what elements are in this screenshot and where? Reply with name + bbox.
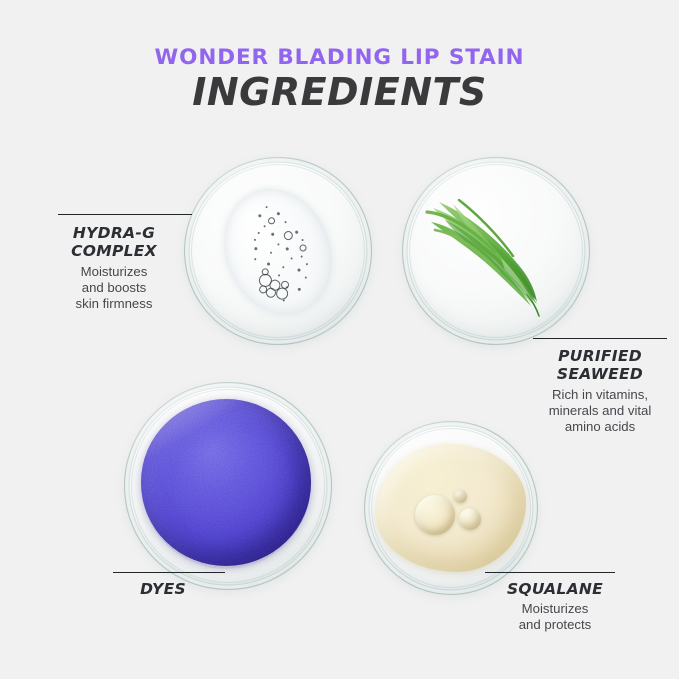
powder-grain-texture [141, 399, 312, 570]
brand-title: WONDER BLADING LIP STAIN [0, 45, 679, 70]
callout-squalane: SQUALANE Moisturizes and protects [480, 570, 630, 633]
gel-blob-icon [205, 172, 350, 330]
ingredients-infographic: WONDER BLADING LIP STAIN INGREDIENTS [0, 0, 679, 679]
ingredient-name: DYES [96, 580, 230, 598]
oil-droplet-small [454, 490, 467, 503]
ingredient-name: HYDRA-G COMPLEX [30, 224, 198, 261]
petri-dish-hydra-g-complex [184, 157, 372, 345]
ingredient-name: SQUALANE [480, 580, 630, 598]
leader-line [485, 572, 615, 573]
page-title: INGREDIENTS [0, 70, 679, 114]
ingredient-description: Rich in vitamins, minerals and vital ami… [524, 387, 676, 435]
leader-line [58, 214, 192, 215]
ingredient-description: Moisturizes and protects [480, 601, 630, 633]
oil-pool-icon [376, 444, 526, 572]
callout-purified-seaweed: PURIFIED SEAWEED Rich in vitamins, miner… [524, 336, 676, 435]
petri-dish-dyes [124, 382, 332, 590]
petri-dish-squalane [364, 421, 538, 595]
callout-hydra-g-complex: HYDRA-G COMPLEX Moisturizes and boosts s… [30, 212, 198, 312]
blue-powder-icon [141, 399, 312, 566]
dish-contents-hydra-g-complex [191, 164, 365, 338]
dish-contents-dyes [131, 389, 325, 583]
callout-dyes: DYES [96, 570, 230, 601]
oil-droplet-medium [459, 508, 481, 530]
oil-droplet-large [415, 495, 455, 535]
leader-line [533, 338, 667, 339]
seaweed-icon [409, 164, 583, 338]
dish-contents-purified-seaweed [409, 164, 583, 338]
dish-contents-squalane [371, 428, 531, 588]
ingredient-description: Moisturizes and boosts skin firmness [30, 264, 198, 312]
leader-line [113, 572, 225, 573]
ingredient-name: PURIFIED SEAWEED [524, 347, 676, 384]
petri-dish-purified-seaweed [402, 157, 590, 345]
